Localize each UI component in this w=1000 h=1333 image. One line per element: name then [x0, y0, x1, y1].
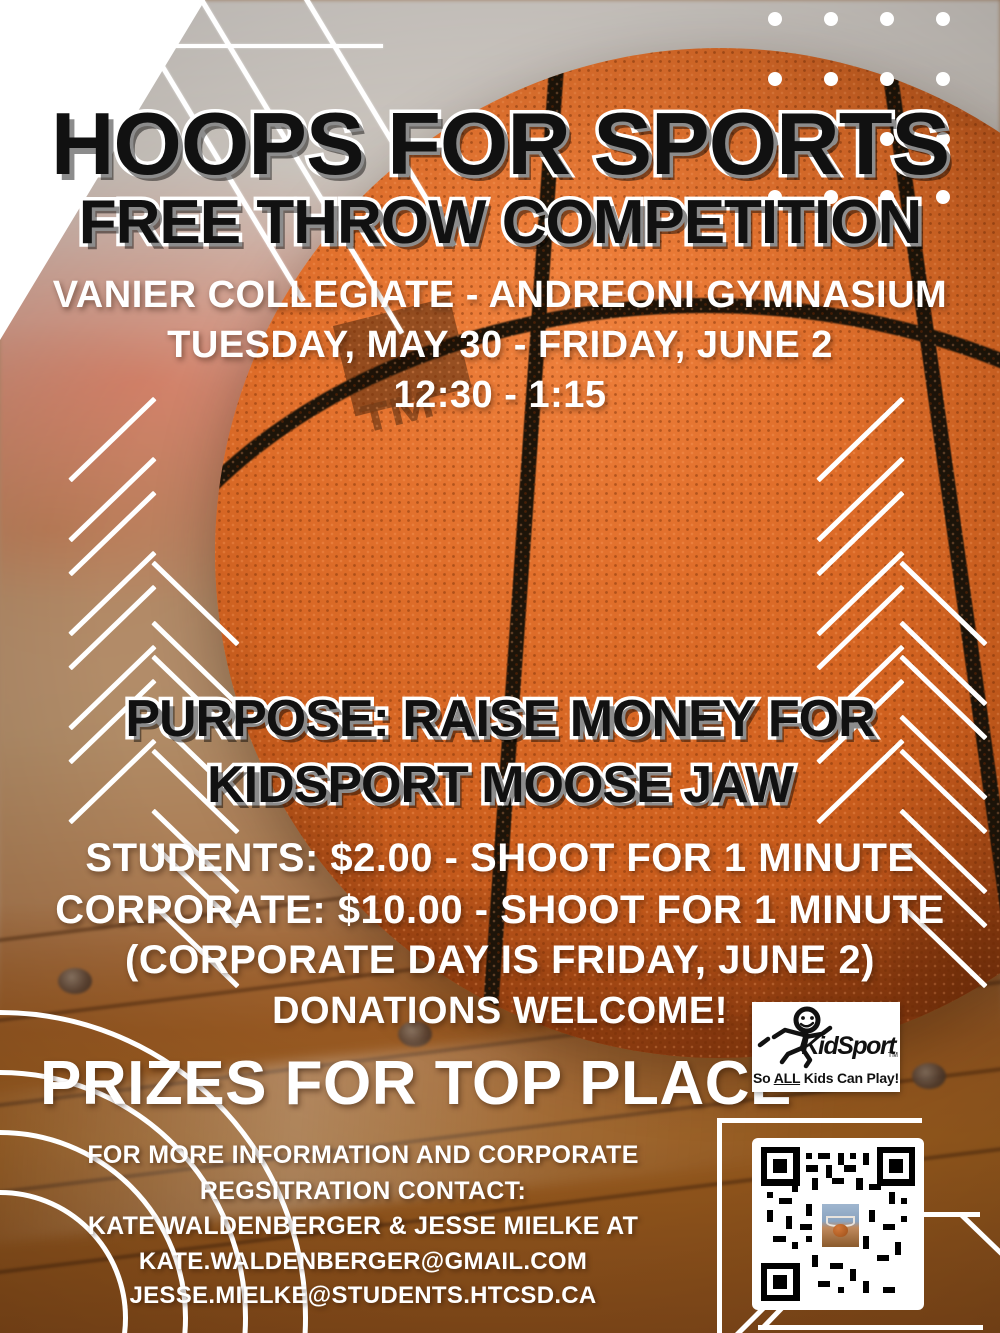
kidsport-tagline: So ALL Kids Can Play!: [752, 1070, 900, 1086]
students-price-text: STUDENTS: $2.00 - SHOOT FOR 1 MINUTE: [0, 836, 1000, 881]
time-text: 12:30 - 1:15: [0, 374, 1000, 417]
kidsport-wordmark: KidSport: [801, 1032, 895, 1061]
poster-subtitle: FREE THROW COMPETITION: [0, 192, 1000, 254]
prizes-text: PRIZES FOR TOP PLACE: [40, 1048, 792, 1119]
contact-email-jesse[interactable]: JESSE.MIELKE@STUDENTS.HTCSD.CA: [0, 1279, 726, 1313]
basketball-hoop-icon: [820, 1202, 862, 1248]
kidsport-logo: KidSport TM So ALL Kids Can Play!: [752, 1002, 900, 1092]
tagline-all: ALL: [774, 1070, 800, 1086]
dates-text: TUESDAY, MAY 30 - FRIDAY, JUNE 2: [0, 324, 1000, 367]
tagline-post: Kids Can Play!: [800, 1070, 899, 1086]
poster-root: ██™: [0, 0, 1000, 1333]
contact-line-3: KATE WALDENBERGER & JESSE MIELKE AT: [0, 1209, 726, 1245]
venue-text: VANIER COLLEGIATE - ANDREONI GYMNASIUM: [0, 274, 1000, 317]
purpose-line-1: PURPOSE: RAISE MONEY FOR: [0, 693, 1000, 745]
poster-title: HOOPS FOR SPORTS: [0, 100, 1000, 188]
contact-line-1: FOR MORE INFORMATION AND CORPORATE: [0, 1138, 726, 1174]
qr-code-icon: [761, 1147, 915, 1301]
kidsport-trademark: TM: [888, 1052, 898, 1059]
corporate-day-text: (CORPORATE DAY IS FRIDAY, JUNE 2): [0, 938, 1000, 983]
corporate-price-text: CORPORATE: $10.00 - SHOOT FOR 1 MINUTE: [0, 888, 1000, 933]
qr-code[interactable]: [752, 1138, 924, 1310]
contact-line-2: REGSITRATION CONTACT:: [0, 1174, 726, 1210]
contact-email-kate[interactable]: KATE.WALDENBERGER@GMAIL.COM: [0, 1245, 726, 1279]
contact-block: FOR MORE INFORMATION AND CORPORATE REGSI…: [0, 1138, 726, 1313]
tagline-pre: So: [753, 1070, 774, 1086]
purpose-line-2: KIDSPORT MOOSE JAW: [0, 759, 1000, 811]
